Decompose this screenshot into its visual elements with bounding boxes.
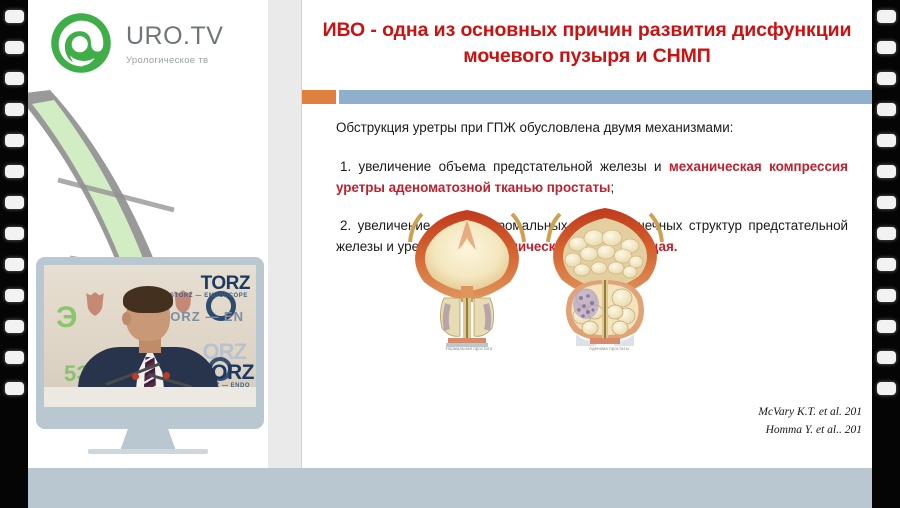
microphone-light-icon — [163, 372, 170, 379]
slide-title-underline — [302, 90, 872, 104]
brand-logo[interactable]: URO.TV Урологическое тв — [50, 12, 223, 74]
filmstrip-sprocket — [877, 320, 896, 333]
filmstrip-sprocket — [5, 196, 24, 209]
monitor-stand-base — [88, 449, 208, 454]
content-canvas: URO.TV Урологическое тв Э 5Э — [28, 0, 872, 508]
microphone-light-icon — [132, 373, 139, 380]
speaker-hair — [123, 286, 173, 313]
item-number: 1. — [340, 159, 351, 174]
filmstrip-sprocket — [5, 10, 24, 23]
filmstrip-sprocket — [5, 165, 24, 178]
page-bottom-band — [28, 468, 872, 508]
video-player-monitor[interactable]: Э 5Э TORZ STORZ — ENDOSCOPE STORZ — EN O… — [36, 257, 264, 429]
filmstrip-sprocket — [877, 103, 896, 116]
backdrop-logo-text: TORZ — [201, 273, 250, 295]
branding-panel: URO.TV Урологическое тв Э 5Э — [28, 0, 268, 468]
filmstrip-sprocket — [5, 320, 24, 333]
slide-list-item-1: 1. увеличение объема предстательной желе… — [336, 157, 848, 199]
filmstrip-sprocket — [877, 165, 896, 178]
filmstrip-sprocket — [877, 41, 896, 54]
filmstrip-sprocket — [5, 41, 24, 54]
uro-swirl-logo-icon — [50, 12, 112, 74]
filmstrip-sprocket — [5, 258, 24, 271]
filmstrip-sprocket — [877, 351, 896, 364]
speaker-ear — [122, 312, 131, 325]
item-number: 2. — [340, 218, 351, 233]
figure-caption-right: Аденома простаты — [554, 346, 664, 352]
filmstrip-sprocket — [877, 382, 896, 395]
filmstrip-sprocket — [5, 72, 24, 85]
panel-divider — [268, 0, 302, 468]
figure-caption-left: Нормальная простата — [414, 346, 524, 352]
filmstrip-sprocket — [5, 351, 24, 364]
slide-citations: McVary K.T. et al. 201 Homma Y. et al.. … — [758, 404, 862, 440]
filmstrip-sprocket — [5, 134, 24, 147]
filmstrip-sprocket — [5, 289, 24, 302]
filmstrip-sprocket — [877, 10, 896, 23]
prostate-anatomy-comparison — [408, 200, 678, 352]
filmstrip-sprocket — [877, 258, 896, 271]
filmstrip-sprocket — [877, 227, 896, 240]
accent-block-orange — [302, 90, 336, 104]
accent-bar-blue — [339, 90, 872, 104]
player-page: URO.TV Урологическое тв Э 5Э — [0, 0, 900, 508]
normal-prostate-figure — [410, 210, 524, 347]
filmstrip-border-left — [0, 0, 28, 508]
filmstrip-sprocket — [877, 289, 896, 302]
brand-tagline: Урологическое тв — [126, 55, 223, 66]
enlarged-prostate-figure — [548, 208, 662, 346]
monitor-stand — [120, 429, 176, 451]
filmstrip-sprocket — [877, 196, 896, 209]
slide-lead-text: Обструкция уретры при ГПЖ обусловлена дв… — [336, 118, 848, 139]
brand-name: URO.TV — [126, 24, 223, 49]
filmstrip-sprocket — [5, 103, 24, 116]
podium — [44, 387, 256, 407]
filmstrip-sprocket — [5, 227, 24, 240]
citation-line: McVary K.T. et al. 201 — [758, 404, 862, 422]
backdrop-logo-sub: STORZ — ENDOSCOPE — [170, 293, 248, 299]
video-thumbnail[interactable]: Э 5Э TORZ STORZ — ENDOSCOPE STORZ — EN O… — [44, 265, 256, 407]
emblem-icon — [84, 291, 106, 317]
filmstrip-sprocket — [5, 382, 24, 395]
filmstrip-border-right — [872, 0, 900, 508]
presentation-slide[interactable]: ИВО - одна из основных причин развития д… — [302, 0, 872, 468]
backdrop-green-mark: Э — [56, 301, 77, 335]
filmstrip-sprocket — [877, 72, 896, 85]
item-plain-tail: ; — [610, 180, 614, 195]
slide-title: ИВО - одна из основных причин развития д… — [302, 18, 872, 70]
item-plain-text: увеличение объема предстательной железы … — [351, 159, 669, 174]
filmstrip-sprocket — [877, 134, 896, 147]
citation-line: Homma Y. et al.. 201 — [758, 422, 862, 440]
